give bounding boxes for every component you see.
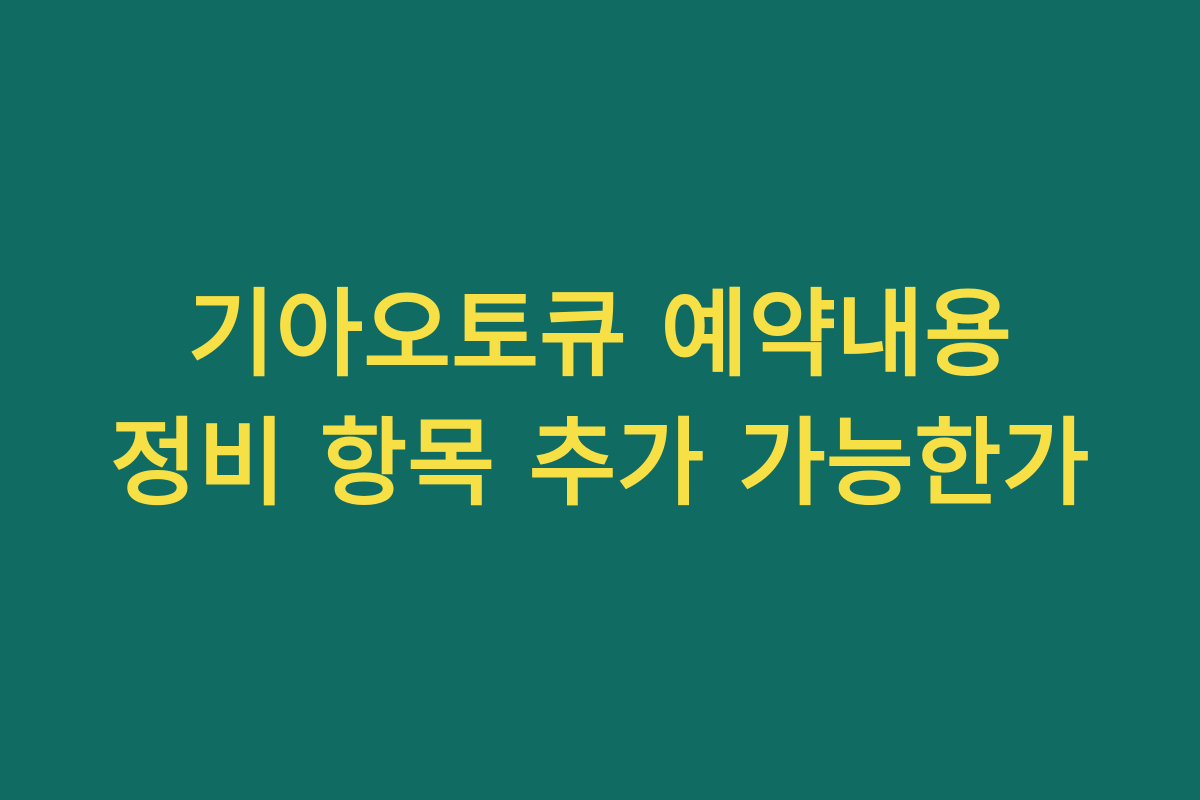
headline-text: 기아오토큐 예약내용 정비 항목 추가 가능한가 — [95, 271, 1105, 529]
headline-block: 기아오토큐 예약내용 정비 항목 추가 가능한가 — [95, 271, 1105, 529]
banner-canvas: 기아오토큐 예약내용 정비 항목 추가 가능한가 — [0, 0, 1200, 800]
